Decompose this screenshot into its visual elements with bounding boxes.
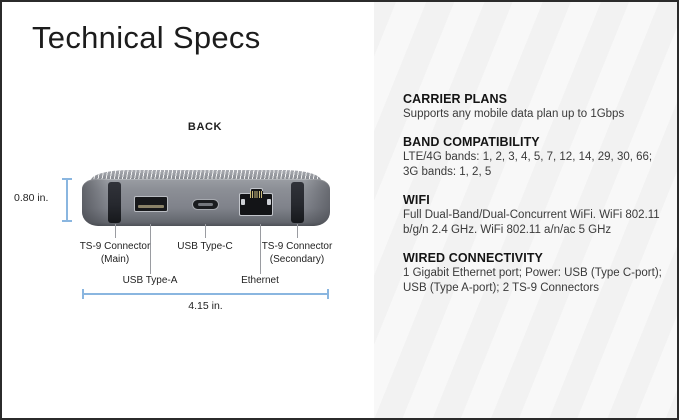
rj45-tab-right xyxy=(267,199,271,205)
page-title: Technical Specs xyxy=(32,20,261,56)
ts9-connector-secondary-port xyxy=(291,182,304,223)
leader-line-ts9-main xyxy=(115,224,116,238)
spec-text-wifi: Full Dual-Band/Dual-Concurrent WiFi. WiF… xyxy=(403,208,665,238)
spec-heading-wifi: WIFI xyxy=(403,193,665,207)
callout-ethernet-line1: Ethernet xyxy=(215,274,305,287)
callout-ts9-secondary-line1: TS-9 Connector xyxy=(237,240,357,253)
usb-type-c-port xyxy=(192,199,219,210)
rj45-pins xyxy=(250,191,263,198)
spec-heading-band-compatibility: BAND COMPATIBILITY xyxy=(403,135,665,149)
diagram-panel: Technical Specs BACK 0.80 in. xyxy=(2,2,374,418)
technical-specs-page: Technical Specs BACK 0.80 in. xyxy=(0,0,679,420)
spec-block-band-compatibility: BAND COMPATIBILITY LTE/4G bands: 1, 2, 3… xyxy=(403,135,665,180)
ts9-connector-main-port xyxy=(108,182,121,223)
callout-usb-type-a-line1: USB Type-A xyxy=(100,274,200,287)
callout-usb-type-a: USB Type-A xyxy=(100,274,200,287)
callout-ts9-main-line2: (Main) xyxy=(55,253,175,266)
usb-type-a-port xyxy=(134,196,168,212)
spec-block-wired-connectivity: WIRED CONNECTIVITY 1 Gigabit Ethernet po… xyxy=(403,251,665,296)
spec-text-carrier-plans: Supports any mobile data plan up to 1Gbp… xyxy=(403,107,665,122)
specifications-panel: CARRIER PLANS Supports any mobile data p… xyxy=(374,2,677,418)
leader-line-usb-type-c xyxy=(205,224,206,238)
spec-block-wifi: WIFI Full Dual-Band/Dual-Concurrent WiFi… xyxy=(403,193,665,238)
callout-ethernet: Ethernet xyxy=(215,274,305,287)
spec-text-band-compatibility: LTE/4G bands: 1, 2, 3, 4, 5, 7, 12, 14, … xyxy=(403,150,665,180)
ethernet-rj45-port xyxy=(239,188,273,216)
height-dimension-line xyxy=(66,178,68,222)
callout-ts9-secondary: TS-9 Connector (Secondary) xyxy=(237,240,357,266)
leader-line-ts9-secondary xyxy=(297,224,298,238)
width-dimension-line xyxy=(82,293,329,295)
spec-block-carrier-plans: CARRIER PLANS Supports any mobile data p… xyxy=(403,92,665,122)
view-orientation-label: BACK xyxy=(105,121,305,133)
width-dimension-label: 4.15 in. xyxy=(82,300,329,312)
spec-heading-carrier-plans: CARRIER PLANS xyxy=(403,92,665,106)
callout-ts9-secondary-line2: (Secondary) xyxy=(237,253,357,266)
spec-heading-wired-connectivity: WIRED CONNECTIVITY xyxy=(403,251,665,265)
height-dimension-label: 0.80 in. xyxy=(14,192,48,204)
device-illustration xyxy=(82,170,330,228)
rj45-tab-left xyxy=(241,199,245,205)
spec-list: CARRIER PLANS Supports any mobile data p… xyxy=(403,92,665,309)
spec-text-wired-connectivity: 1 Gigabit Ethernet port; Power: USB (Typ… xyxy=(403,266,665,296)
